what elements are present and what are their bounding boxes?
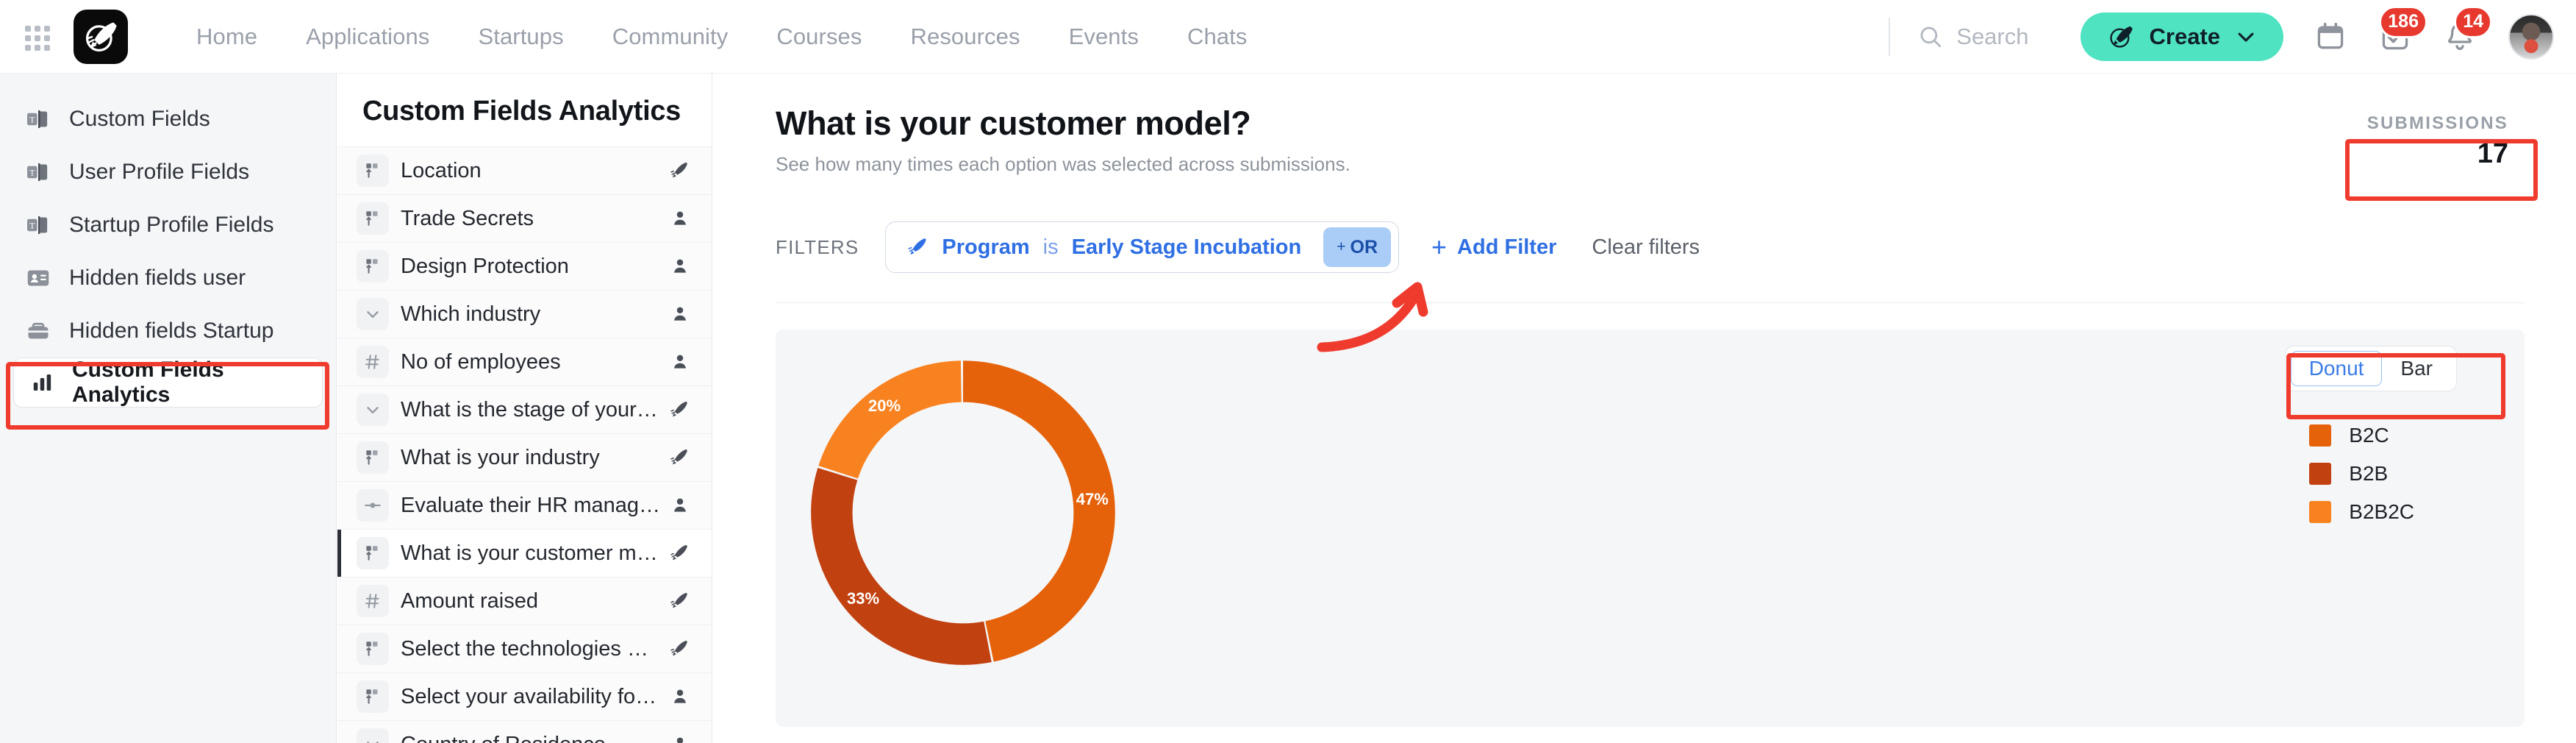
search-input[interactable]: Search xyxy=(1918,24,2028,50)
nav-right-cluster: Search Create xyxy=(1889,13,2576,61)
rocket-icon xyxy=(668,542,690,564)
plus-icon: + xyxy=(1431,237,1447,258)
chart-view-toggle: Donut Bar xyxy=(2285,346,2457,391)
main-nav-links: Home Applications Startups Community Cou… xyxy=(172,24,1271,50)
filters-label: FILTERS xyxy=(776,236,859,259)
rocket-icon xyxy=(668,638,690,660)
rocket-icon xyxy=(668,447,690,469)
sidebar-item-custom-fields-analytics[interactable]: Custom Fields Analytics xyxy=(13,358,323,408)
filter-bar: FILTERS Program is Early Stage Incubatio… xyxy=(776,221,2525,303)
legend-label: B2B xyxy=(2349,462,2388,486)
create-button-label: Create xyxy=(2150,24,2221,50)
nav-link-home[interactable]: Home xyxy=(172,24,282,50)
submissions-value: 17 xyxy=(2367,138,2508,170)
sidebar-item-label: Hidden fields Startup xyxy=(69,319,274,344)
analytics-main-panel: What is your customer model? See how man… xyxy=(713,74,2576,743)
sidebar-item-label: Custom Fields Analytics xyxy=(72,358,306,408)
person-icon xyxy=(670,687,690,706)
toggle-donut-button[interactable]: Donut xyxy=(2291,351,2383,386)
svg-text:T: T xyxy=(29,115,35,125)
legend-swatch xyxy=(2309,501,2331,523)
toggle-bar-button[interactable]: Bar xyxy=(2382,351,2451,386)
sidebar-item-label: User Profile Fields xyxy=(69,160,249,185)
nav-link-events[interactable]: Events xyxy=(1045,24,1163,50)
select-icon xyxy=(357,633,389,665)
select-icon xyxy=(357,202,389,235)
donut-chart: 47% 33% 20% xyxy=(790,340,1136,686)
nav-link-applications[interactable]: Applications xyxy=(282,24,454,50)
rocket-icon xyxy=(668,399,690,421)
legend-item[interactable]: B2B2C xyxy=(2309,493,2414,531)
field-row[interactable]: No of employees xyxy=(337,338,712,385)
calendar-icon xyxy=(2314,21,2347,53)
nav-link-community[interactable]: Community xyxy=(588,24,753,50)
field-row[interactable]: Design Protection xyxy=(337,242,712,290)
briefcase-icon xyxy=(25,318,51,344)
field-label: What is your industry xyxy=(401,446,659,470)
person-icon xyxy=(670,209,690,228)
select-icon xyxy=(357,441,389,474)
number-icon xyxy=(357,585,389,617)
top-navigation-bar: Home Applications Startups Community Cou… xyxy=(0,0,2576,74)
clear-filters-button[interactable]: Clear filters xyxy=(1592,235,1700,260)
field-row[interactable]: Amount raised xyxy=(337,577,712,625)
select-icon xyxy=(357,154,389,187)
legend-item[interactable]: B2B xyxy=(2309,455,2414,493)
slider-icon xyxy=(357,489,389,522)
rocket-icon xyxy=(905,235,929,259)
field-label: No of employees xyxy=(401,350,662,374)
page-title: Custom Fields Analytics xyxy=(337,74,712,146)
app-root: Home Applications Startups Community Cou… xyxy=(0,0,2576,743)
bar-chart-icon xyxy=(30,369,54,396)
sidebar-item-user-profile-fields[interactable]: T User Profile Fields xyxy=(0,146,336,199)
nav-link-resources[interactable]: Resources xyxy=(887,24,1045,50)
chart-legend: B2C B2B B2B2C xyxy=(2309,416,2414,531)
legend-swatch xyxy=(2309,424,2331,447)
field-row[interactable]: Select your availability for ... xyxy=(337,672,712,720)
submissions-label: SUBMISSIONS xyxy=(2367,113,2508,134)
select-icon xyxy=(357,250,389,282)
filter-chip-key: Program xyxy=(942,235,1029,260)
search-icon xyxy=(1918,24,1943,49)
svg-text:T: T xyxy=(29,221,35,231)
question-subtitle: See how many times each option was selec… xyxy=(776,153,1350,176)
legend-item[interactable]: B2C xyxy=(2309,416,2414,455)
avatar-image xyxy=(2510,15,2552,58)
field-label: Select your availability for ... xyxy=(401,685,662,709)
analytics-header: What is your customer model? See how man… xyxy=(776,74,2525,179)
sidebar-item-label: Startup Profile Fields xyxy=(69,213,273,238)
number-icon xyxy=(357,346,389,378)
rocket-icon xyxy=(2107,23,2135,51)
field-row[interactable]: Country of Residence xyxy=(337,720,712,743)
add-filter-label: Add Filter xyxy=(1457,235,1556,260)
text-field-icon: T xyxy=(25,212,51,238)
select-icon xyxy=(357,537,389,569)
field-label: What is the stage of your e... xyxy=(401,398,659,422)
field-row[interactable]: What is your industry xyxy=(337,433,712,481)
rocket-icon xyxy=(668,160,690,182)
rocket-icon xyxy=(668,590,690,612)
sidebar-item-startup-profile-fields[interactable]: T Startup Profile Fields xyxy=(0,199,336,252)
calendar-button[interactable] xyxy=(2314,21,2347,53)
chart-card: 47% 33% 20% Donut Bar B2C B2B xyxy=(776,330,2525,727)
field-row[interactable]: Evaluate their HR manage... xyxy=(337,481,712,529)
add-filter-button[interactable]: + Add Filter xyxy=(1431,235,1556,260)
field-row[interactable]: What is the stage of your e... xyxy=(337,385,712,433)
sidebar-item-label: Hidden fields user xyxy=(69,266,246,291)
field-list-panel: Custom Fields Analytics Location xyxy=(337,74,712,743)
nav-divider xyxy=(1889,18,1890,56)
nav-link-chats[interactable]: Chats xyxy=(1163,24,1271,50)
legend-label: B2B2C xyxy=(2349,500,2414,524)
field-label: Amount raised xyxy=(401,589,659,614)
question-heading-block: What is your customer model? See how man… xyxy=(776,104,1350,176)
field-row[interactable]: Select the technologies yo... xyxy=(337,625,712,672)
sidebar-item-custom-fields[interactable]: T Custom Fields xyxy=(0,93,336,146)
rocket-logo-icon[interactable] xyxy=(74,10,128,64)
legend-label: B2C xyxy=(2349,424,2389,447)
field-label: Evaluate their HR manage... xyxy=(401,494,662,518)
legend-swatch xyxy=(2309,463,2331,485)
settings-sidebar: T Custom Fields T User Profile Fields T xyxy=(0,74,337,743)
person-icon xyxy=(670,305,690,324)
field-row-selected[interactable]: What is your customer mo... xyxy=(337,529,712,577)
field-label: Trade Secrets xyxy=(401,207,662,231)
tasks-button[interactable]: 186 xyxy=(2379,21,2411,53)
id-card-icon xyxy=(25,265,51,291)
chevron-down-icon xyxy=(2235,26,2257,48)
field-label: Select the technologies yo... xyxy=(401,637,659,661)
field-label: What is your customer mo... xyxy=(401,541,659,566)
apps-grid-icon[interactable] xyxy=(19,20,53,54)
avatar[interactable] xyxy=(2508,14,2554,60)
person-icon xyxy=(670,352,690,371)
field-label: Location xyxy=(401,159,659,183)
text-field-icon: T xyxy=(25,106,51,132)
search-placeholder: Search xyxy=(1956,24,2028,50)
field-row[interactable]: Location xyxy=(337,146,712,194)
sidebar-item-hidden-fields-user[interactable]: Hidden fields user xyxy=(0,252,336,305)
filter-or-label: OR xyxy=(1350,237,1378,258)
text-field-icon: T xyxy=(25,159,51,185)
filter-or-button[interactable]: + OR xyxy=(1323,227,1391,267)
select-icon xyxy=(357,680,389,713)
field-label: Country of Residence xyxy=(401,733,662,743)
sidebar-item-label: Custom Fields xyxy=(69,107,210,132)
filter-chip-operator: is xyxy=(1043,235,1059,260)
filter-or-plus: + xyxy=(1337,238,1345,256)
field-row[interactable]: Which industry xyxy=(337,290,712,338)
field-row[interactable]: Trade Secrets xyxy=(337,194,712,242)
svg-text:T: T xyxy=(29,168,35,178)
create-button[interactable]: Create xyxy=(2081,13,2284,61)
person-icon xyxy=(670,257,690,276)
nav-link-startups[interactable]: Startups xyxy=(454,24,587,50)
field-label: Which industry xyxy=(401,302,662,327)
filter-chip-value: Early Stage Incubation xyxy=(1072,235,1302,260)
submissions-stat: SUBMISSIONS 17 xyxy=(2348,104,2525,179)
filter-chip-program[interactable]: Program is Early Stage Incubation + OR xyxy=(885,221,1399,273)
dropdown-icon xyxy=(357,394,389,426)
question-title: What is your customer model? xyxy=(776,104,1350,143)
field-label: Design Protection xyxy=(401,255,662,279)
dropdown-icon xyxy=(357,298,389,330)
person-icon xyxy=(670,735,690,743)
person-icon xyxy=(670,496,690,515)
nav-link-courses[interactable]: Courses xyxy=(752,24,886,50)
sidebar-item-hidden-fields-startup[interactable]: Hidden fields Startup xyxy=(0,305,336,358)
donut-svg xyxy=(790,340,1136,686)
tasks-badge: 186 xyxy=(2379,6,2427,38)
dropdown-icon xyxy=(357,728,389,743)
notifications-badge: 14 xyxy=(2454,6,2492,38)
notifications-button[interactable]: 14 xyxy=(2444,21,2476,53)
